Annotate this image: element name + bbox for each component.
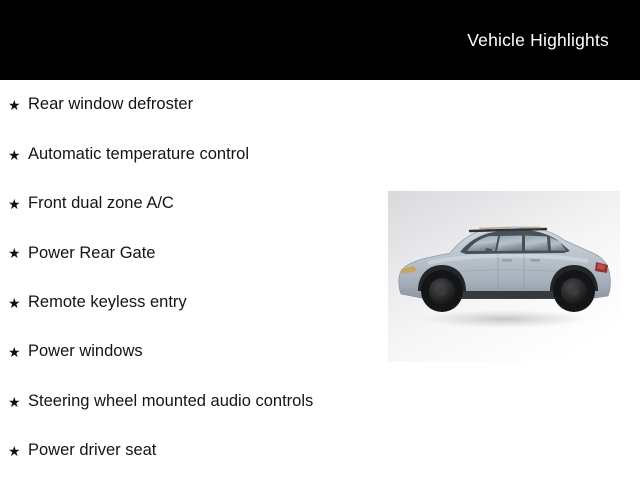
list-item: ★ Steering wheel mounted audio controls <box>0 376 380 425</box>
vehicle-image <box>388 191 620 362</box>
list-item-label: Rear window defroster <box>28 96 193 113</box>
page-header: Vehicle Highlights <box>0 0 640 80</box>
list-item-label: Steering wheel mounted audio controls <box>28 393 313 410</box>
list-item-label: Power driver seat <box>28 442 156 459</box>
star-bullet-icon: ★ <box>8 394 28 409</box>
list-item: ★ Power windows <box>0 327 380 376</box>
list-item-label: Front dual zone A/C <box>28 195 174 212</box>
rear-door-handle <box>530 259 540 262</box>
page-title: Vehicle Highlights <box>467 30 609 50</box>
star-bullet-icon: ★ <box>8 295 28 310</box>
list-item: ★ Power Rear Gate <box>0 228 380 277</box>
front-door-handle <box>502 259 512 262</box>
list-item: ★ Automatic temperature control <box>0 129 380 178</box>
list-item: ★ Remote keyless entry <box>0 278 380 327</box>
list-item: ★ Rear window defroster <box>0 80 380 129</box>
star-bullet-icon: ★ <box>8 443 28 458</box>
content-area: ★ Rear window defroster ★ Automatic temp… <box>0 80 640 480</box>
star-bullet-icon: ★ <box>8 344 28 359</box>
front-hub <box>437 286 446 295</box>
star-bullet-icon: ★ <box>8 147 28 162</box>
star-bullet-icon: ★ <box>8 245 28 260</box>
list-item: ★ Front dual zone A/C <box>0 179 380 228</box>
ground-shadow <box>412 309 596 329</box>
list-item-label: Power windows <box>28 343 143 360</box>
star-bullet-icon: ★ <box>8 97 28 112</box>
rear-hub <box>569 286 578 295</box>
rear-door-glass <box>525 236 548 251</box>
vehicle-highlights-list: ★ Rear window defroster ★ Automatic temp… <box>0 80 380 475</box>
list-item-label: Automatic temperature control <box>28 146 249 163</box>
list-item-label: Remote keyless entry <box>28 294 187 311</box>
star-bullet-icon: ★ <box>8 196 28 211</box>
front-door-glass <box>497 236 522 252</box>
roof-rail-accent-front <box>480 228 508 229</box>
list-item-label: Power Rear Gate <box>28 245 155 262</box>
list-item: ★ Power driver seat <box>0 426 380 475</box>
